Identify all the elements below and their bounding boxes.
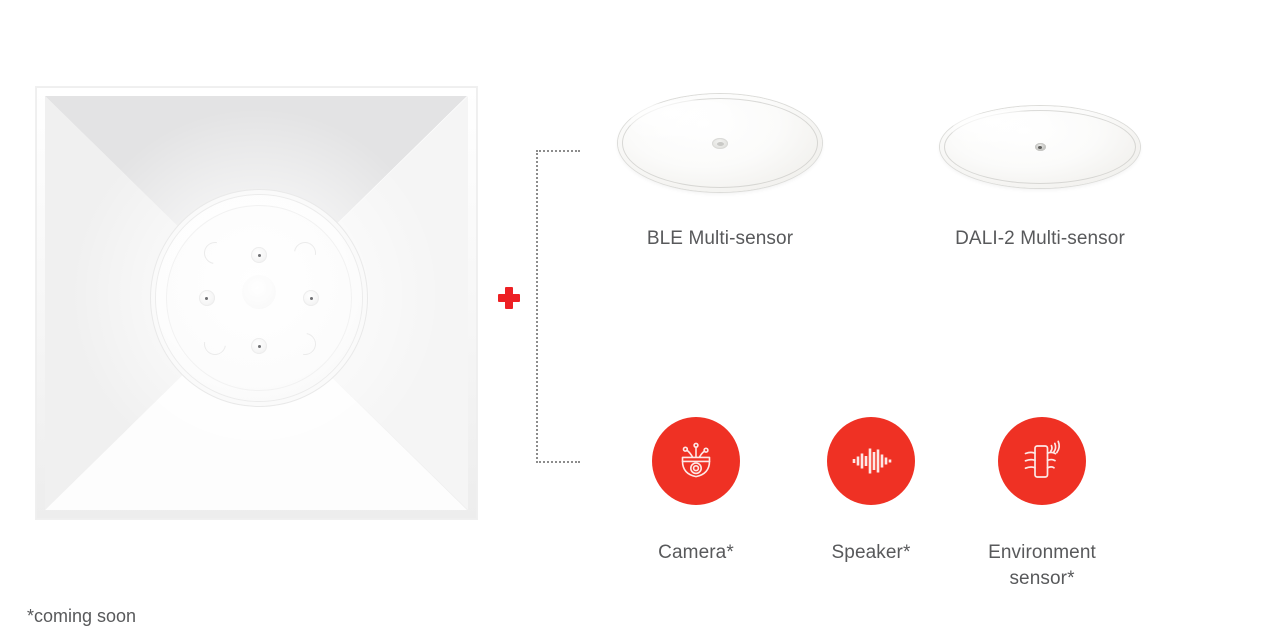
dome-camera-icon [670, 435, 722, 487]
dali2-sensor-disc [940, 106, 1140, 188]
tray-clip [200, 328, 231, 359]
environment-sensor-badge[interactable] [998, 417, 1086, 505]
module-environment-sensor[interactable]: Environment sensor* [957, 417, 1127, 592]
tray-clip [200, 237, 231, 268]
module-label-camera: Camera* [611, 540, 781, 566]
bracket-spine [536, 150, 538, 463]
dali2-sensor-lens-icon [1035, 143, 1046, 151]
tray-screw [251, 247, 267, 263]
tray-screw [251, 338, 267, 354]
camera-badge[interactable] [652, 417, 740, 505]
plus-vertical-bar [505, 287, 513, 309]
bracket-bottom-arm [536, 461, 580, 463]
dotted-bracket [536, 150, 580, 463]
tray-clip [289, 237, 320, 268]
sound-waveform-icon [845, 435, 897, 487]
plus-symbol [498, 287, 520, 309]
module-label-speaker: Speaker* [786, 540, 956, 566]
panel-center-tray-inner [166, 205, 352, 391]
module-camera[interactable]: Camera* [611, 417, 781, 566]
panel-outer-frame [36, 87, 477, 519]
module-label-environment-sensor: Environment sensor* [957, 540, 1127, 592]
module-label-dali2-multi-sensor: DALI-2 Multi-sensor [920, 226, 1160, 252]
product-accessories-diagram: BLE Multi-sensor DALI-2 Multi-sensor [0, 0, 1280, 640]
tray-clip [289, 328, 320, 359]
ble-sensor-disc [618, 94, 822, 192]
air-quality-sensor-icon [1016, 435, 1068, 487]
tray-screw [199, 290, 215, 306]
speaker-badge[interactable] [827, 417, 915, 505]
module-label-ble-multi-sensor: BLE Multi-sensor [600, 226, 840, 252]
ble-sensor-lens-icon [712, 138, 728, 149]
square-led-panel [36, 87, 477, 519]
module-speaker[interactable]: Speaker* [786, 417, 956, 566]
panel-center-tray [156, 195, 362, 401]
bracket-top-arm [536, 150, 580, 152]
tray-screw [303, 290, 319, 306]
footnote-coming-soon: *coming soon [27, 604, 136, 628]
panel-center-hub [242, 275, 276, 309]
